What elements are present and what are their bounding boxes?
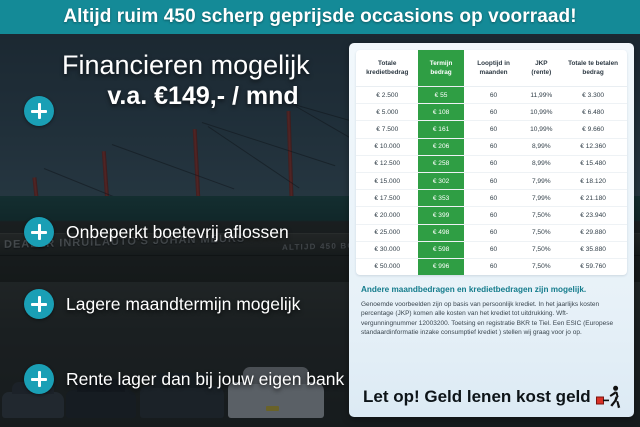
cell-termijn: € 108 xyxy=(418,104,463,121)
cell-jkp: 7,50% xyxy=(523,241,559,258)
plus-icon xyxy=(24,96,54,126)
table-row: € 5.000€ 1086010,99%€ 6.480 xyxy=(356,104,627,121)
promo-banner-text: Altijd ruim 450 scherp geprijsde occasio… xyxy=(63,6,576,28)
promo-panel: Financieren mogelijk v.a. €149,- / mnd O… xyxy=(0,34,345,427)
cell-totaal: € 18.120 xyxy=(559,172,627,189)
cell-looptijd: 60 xyxy=(464,172,524,189)
plus-icon xyxy=(24,289,54,319)
table-row: € 7.500€ 1616010,99%€ 9.660 xyxy=(356,121,627,138)
cell-totaal: € 9.660 xyxy=(559,121,627,138)
cell-termijn: € 996 xyxy=(418,258,463,275)
table-row: € 10.000€ 206608,99%€ 12.360 xyxy=(356,138,627,155)
promo-bullet-aflossen: Onbeperkt boetevrij aflossen xyxy=(24,217,289,247)
notice-title: Andere maandbedragen en kredietbedragen … xyxy=(361,284,622,295)
cell-termijn: € 353 xyxy=(418,190,463,207)
promo-bullet-rente: Rente lager dan bij jouw eigen bank xyxy=(24,364,344,394)
cell-totaal: € 15.480 xyxy=(559,155,627,172)
column-header-jkp: JKP (rente) xyxy=(523,50,559,87)
cell-totaal: € 59.760 xyxy=(559,258,627,275)
cell-krediet: € 17.500 xyxy=(356,190,418,207)
financing-table: Totale kredietbedrag Termijn bedrag Loop… xyxy=(356,50,627,275)
cell-jkp: 7,50% xyxy=(523,207,559,224)
promo-bullet-label: Onbeperkt boetevrij aflossen xyxy=(66,222,289,243)
column-header-totaal: Totale te betalen bedrag xyxy=(559,50,627,87)
cell-looptijd: 60 xyxy=(464,224,524,241)
cell-looptijd: 60 xyxy=(464,241,524,258)
table-header-row: Totale kredietbedrag Termijn bedrag Loop… xyxy=(356,50,627,87)
cell-totaal: € 29.880 xyxy=(559,224,627,241)
table-row: € 2.500€ 556011,99%€ 3.300 xyxy=(356,87,627,104)
cell-jkp: 8,99% xyxy=(523,138,559,155)
cell-krediet: € 15.000 xyxy=(356,172,418,189)
cell-jkp: 10,99% xyxy=(523,104,559,121)
cell-krediet: € 25.000 xyxy=(356,224,418,241)
cell-looptijd: 60 xyxy=(464,87,524,104)
cell-termijn: € 55 xyxy=(418,87,463,104)
cell-totaal: € 21.180 xyxy=(559,190,627,207)
cell-jkp: 7,99% xyxy=(523,172,559,189)
promo-bullet-maandtermijn: Lagere maandtermijn mogelijk xyxy=(24,289,300,319)
promo-bullet-label: Rente lager dan bij jouw eigen bank xyxy=(66,369,344,390)
column-header-termijn: Termijn bedrag xyxy=(418,50,463,87)
cell-jkp: 7,50% xyxy=(523,258,559,275)
cell-totaal: € 6.480 xyxy=(559,104,627,121)
table-row: € 50.000€ 996607,50%€ 59.760 xyxy=(356,258,627,275)
plus-icon xyxy=(24,217,54,247)
table-row: € 17.500€ 353607,99%€ 21.180 xyxy=(356,190,627,207)
table-row: € 12.500€ 258608,99%€ 15.480 xyxy=(356,155,627,172)
notice-block: Andere maandbedragen en kredietbedragen … xyxy=(356,284,627,338)
cell-looptijd: 60 xyxy=(464,207,524,224)
financing-card: Totale kredietbedrag Termijn bedrag Loop… xyxy=(349,43,634,417)
cell-termijn: € 498 xyxy=(418,224,463,241)
cell-totaal: € 35.880 xyxy=(559,241,627,258)
notice-body: Genoemde voorbeelden zijn op basis van p… xyxy=(361,300,622,338)
promo-bullet-label: Lagere maandtermijn mogelijk xyxy=(66,294,300,315)
table-row: € 20.000€ 399607,50%€ 23.940 xyxy=(356,207,627,224)
cell-krediet: € 5.000 xyxy=(356,104,418,121)
cell-krediet: € 12.500 xyxy=(356,155,418,172)
financing-table-container: Totale kredietbedrag Termijn bedrag Loop… xyxy=(356,50,627,275)
cell-looptijd: 60 xyxy=(464,155,524,172)
cell-jkp: 8,99% xyxy=(523,155,559,172)
credit-warning: Let op! Geld lenen kost geld xyxy=(363,385,622,409)
column-header-krediet: Totale kredietbedrag xyxy=(356,50,418,87)
cell-jkp: 7,99% xyxy=(523,190,559,207)
cell-krediet: € 50.000 xyxy=(356,258,418,275)
table-row: € 15.000€ 302607,99%€ 18.120 xyxy=(356,172,627,189)
table-row: € 30.000€ 598607,50%€ 35.880 xyxy=(356,241,627,258)
column-header-looptijd: Looptijd in maanden xyxy=(464,50,524,87)
cell-looptijd: 60 xyxy=(464,104,524,121)
cell-krediet: € 2.500 xyxy=(356,87,418,104)
cell-jkp: 7,50% xyxy=(523,224,559,241)
credit-warning-text: Let op! Geld lenen kost geld xyxy=(363,387,591,407)
cell-totaal: € 23.940 xyxy=(559,207,627,224)
financing-table-body: € 2.500€ 556011,99%€ 3.300€ 5.000€ 10860… xyxy=(356,87,627,276)
plus-icon xyxy=(24,364,54,394)
cell-looptijd: 60 xyxy=(464,190,524,207)
cell-looptijd: 60 xyxy=(464,121,524,138)
promo-headline: Financieren mogelijk xyxy=(62,50,344,80)
cell-looptijd: 60 xyxy=(464,138,524,155)
cell-totaal: € 12.360 xyxy=(559,138,627,155)
cell-krediet: € 10.000 xyxy=(356,138,418,155)
promo-banner: Altijd ruim 450 scherp geprijsde occasio… xyxy=(0,0,640,34)
cell-termijn: € 302 xyxy=(418,172,463,189)
cell-jkp: 10,99% xyxy=(523,121,559,138)
running-man-warning-icon xyxy=(596,385,622,409)
cell-termijn: € 258 xyxy=(418,155,463,172)
cell-termijn: € 598 xyxy=(418,241,463,258)
cell-termijn: € 399 xyxy=(418,207,463,224)
financing-table-head: Totale kredietbedrag Termijn bedrag Loop… xyxy=(356,50,627,87)
promo-subheadline: v.a. €149,- / mnd xyxy=(62,82,344,110)
cell-termijn: € 161 xyxy=(418,121,463,138)
table-row: € 25.000€ 498607,50%€ 29.880 xyxy=(356,224,627,241)
cell-krediet: € 7.500 xyxy=(356,121,418,138)
cell-totaal: € 3.300 xyxy=(559,87,627,104)
cell-krediet: € 20.000 xyxy=(356,207,418,224)
cell-krediet: € 30.000 xyxy=(356,241,418,258)
promo-bullet-financieren xyxy=(24,96,54,126)
cell-termijn: € 206 xyxy=(418,138,463,155)
cell-looptijd: 60 xyxy=(464,258,524,275)
cell-jkp: 11,99% xyxy=(523,87,559,104)
